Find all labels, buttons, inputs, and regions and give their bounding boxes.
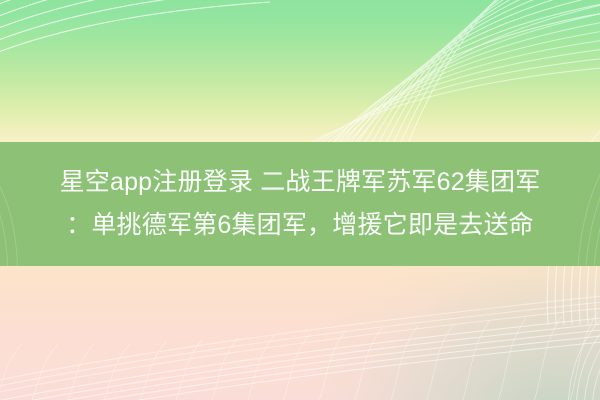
promo-banner: 星空app注册登录 二战王牌军苏军62集团军 ：单挑德军第6集团军，增援它即是去… xyxy=(0,0,600,400)
headline-line-1: 星空app注册登录 二战王牌军苏军62集团军 xyxy=(33,161,567,204)
headline-band: 星空app注册登录 二战王牌军苏军62集团军 ：单挑德军第6集团军，增援它即是去… xyxy=(0,142,600,266)
headline-line-2: ：单挑德军第6集团军，增援它即是去送命 xyxy=(33,204,567,247)
page-title: 星空app注册登录 二战王牌军苏军62集团军 ：单挑德军第6集团军，增援它即是去… xyxy=(33,161,567,247)
